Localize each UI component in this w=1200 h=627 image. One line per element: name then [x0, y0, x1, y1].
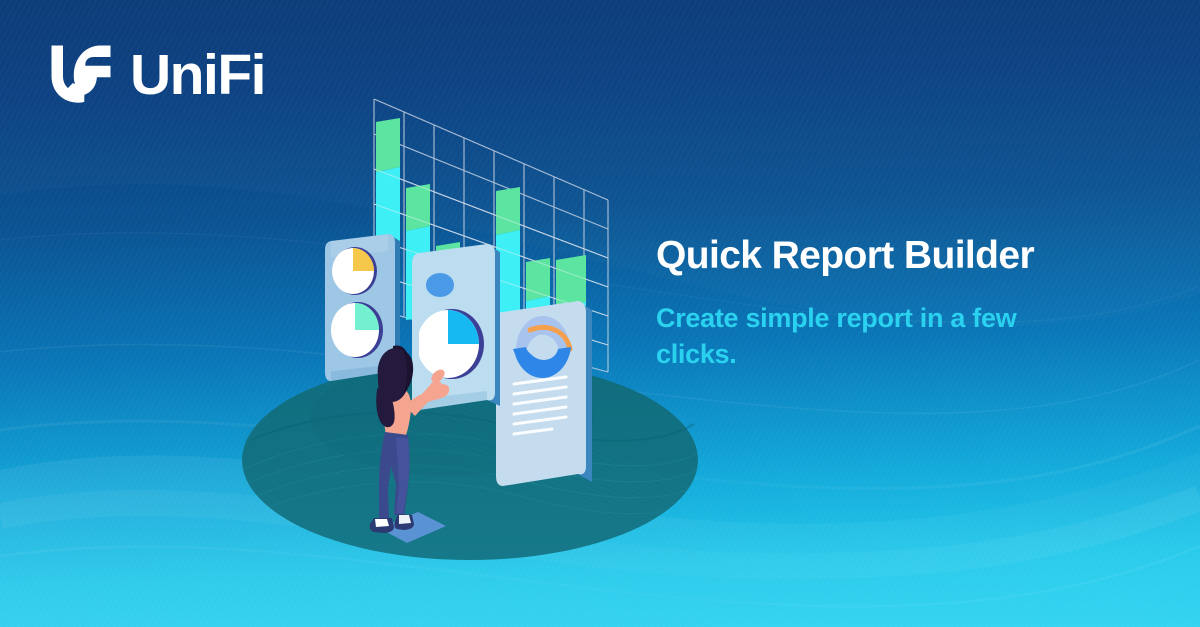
page-title: Quick Report Builder [656, 234, 1126, 278]
card-donut-document[interactable] [496, 301, 592, 486]
brand-wordmark: UniFi [130, 47, 265, 104]
card-single-pie[interactable] [412, 244, 500, 410]
page-subtitle: Create simple report in a few clicks. [656, 300, 1046, 372]
promo-copy: Quick Report Builder Create simple repor… [656, 234, 1126, 372]
brand-logo[interactable]: UniFi [46, 40, 265, 110]
unifi-logo-mark [46, 40, 116, 110]
promo-banner: UniFi Quick Report Builder Create simple… [0, 0, 1200, 627]
